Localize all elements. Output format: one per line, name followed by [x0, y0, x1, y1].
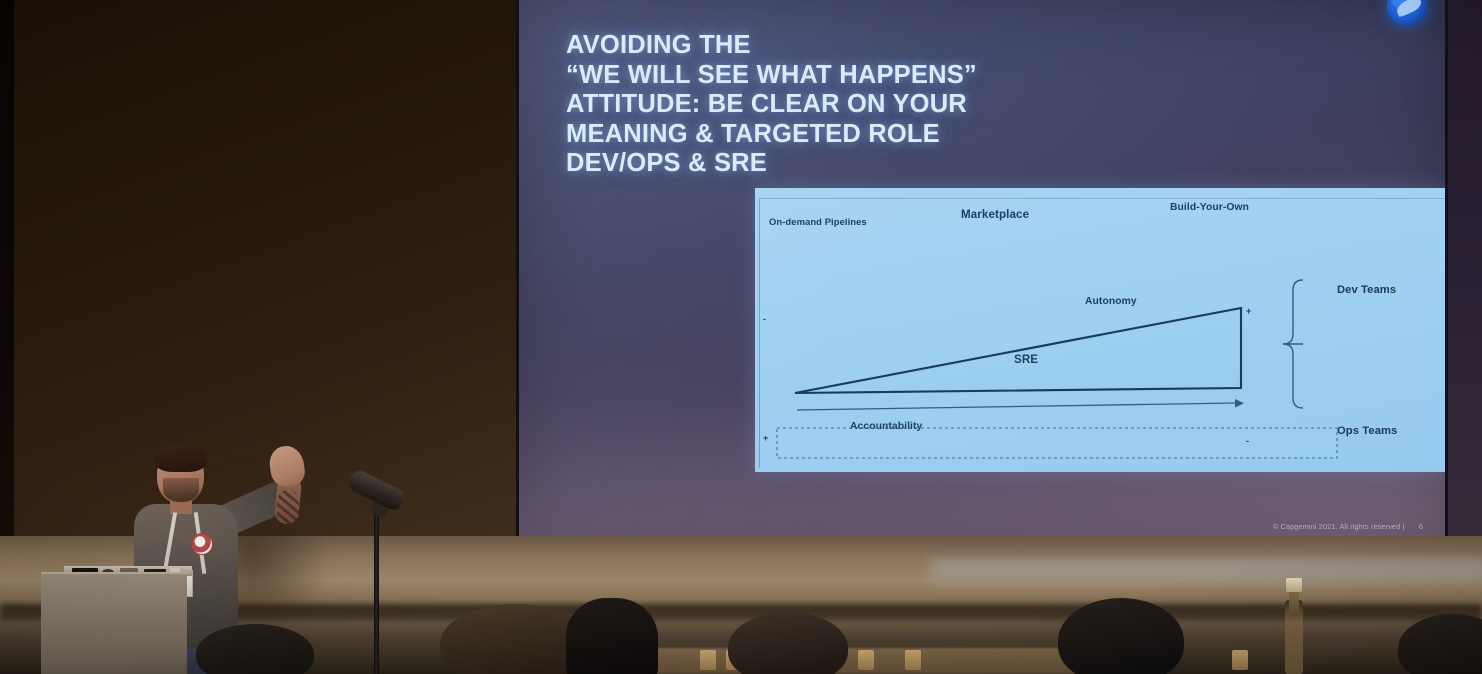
- autonomy-wedge: [795, 308, 1241, 393]
- label-build-your-own: Build-Your-Own: [1170, 202, 1249, 213]
- autonomy-axis-left-sign: -: [763, 314, 766, 324]
- conference-photo-scene: AVOIDING THE “WE WILL SEE WHAT HAPPENS” …: [0, 0, 1482, 674]
- shirt-logo-patch: [191, 533, 213, 555]
- label-dev-teams: Dev Teams: [1337, 284, 1396, 296]
- audience-head: [1058, 598, 1184, 674]
- accountability-axis-left-sign: +: [763, 433, 768, 443]
- label-ops-teams: Ops Teams: [1337, 425, 1397, 437]
- label-accountability: Accountability: [850, 421, 922, 432]
- page-number: 6: [1419, 522, 1423, 531]
- label-sre: SRE: [1014, 353, 1038, 366]
- wall-edge: [0, 0, 14, 600]
- presentation-slide: AVOIDING THE “WE WILL SEE WHAT HAPPENS” …: [519, 0, 1445, 543]
- accountability-axis-right-sign: -: [1246, 436, 1249, 446]
- arm-tattoo: [277, 490, 299, 524]
- label-marketplace: Marketplace: [961, 208, 1029, 221]
- slide-title: AVOIDING THE “WE WILL SEE WHAT HAPPENS” …: [566, 31, 1206, 179]
- microphone-stand: [374, 512, 379, 674]
- slide-footer: © Capgemini 2021. All rights reserved | …: [1273, 522, 1423, 531]
- devops-sre-diagram: On-demand Pipelines Marketplace Build-Yo…: [755, 188, 1445, 472]
- label-on-demand-pipelines: On-demand Pipelines: [769, 216, 867, 227]
- label-autonomy: Autonomy: [1085, 296, 1137, 307]
- podium: Le Palais des Congrès de Paris: [41, 572, 187, 674]
- audience-head: [566, 598, 658, 674]
- sre-band: [777, 428, 1337, 458]
- light-strip: [930, 560, 1482, 590]
- brand-swirl-logo-icon: [1387, 0, 1427, 26]
- audience-head: [728, 612, 848, 674]
- copyright-text: © Capgemini 2021. All rights reserved |: [1273, 522, 1405, 531]
- autonomy-axis-right-sign: +: [1246, 306, 1251, 316]
